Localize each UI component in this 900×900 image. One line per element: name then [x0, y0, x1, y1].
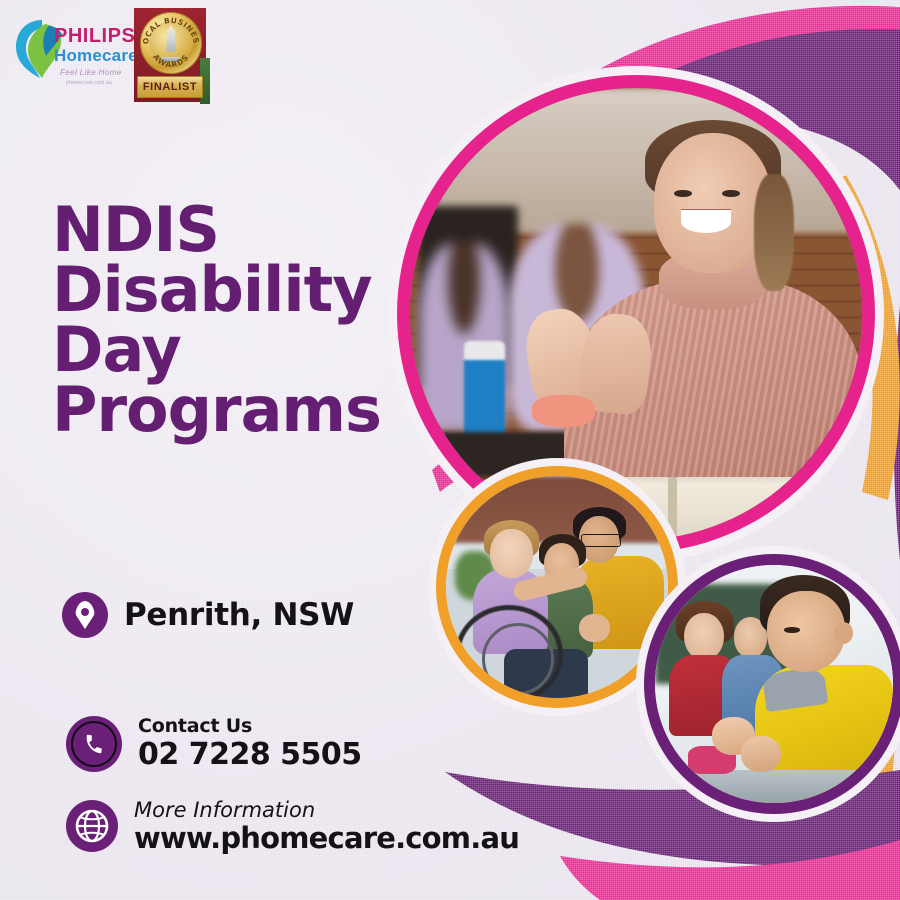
phone-handset-glyph: [82, 732, 107, 757]
badge-finalist-ribbon: FINALIST: [137, 76, 203, 98]
headline-line-3: Day: [52, 320, 452, 380]
map-pin-icon: [62, 592, 108, 638]
badge-arc-bottom-label: AWARDS: [151, 52, 191, 69]
philips-homecare-logo[interactable]: PHILIPS Homecare Feel Like Home phomecar…: [10, 6, 118, 98]
phone-icon: [66, 716, 122, 772]
logo-tagline: Feel Like Home: [60, 68, 122, 77]
website-url[interactable]: www.phomecare.com.au: [134, 822, 519, 854]
badge-arc-bottom-text: AWARDS: [140, 12, 202, 74]
photo-main-woman-clapping: [410, 88, 862, 540]
photo-three-friends: [446, 476, 668, 698]
local-business-awards-badge[interactable]: LOCAL BUSINESS AWARDS FINALIST: [134, 6, 212, 106]
globe-glyph: [66, 800, 118, 852]
brand-header: PHILIPS Homecare Feel Like Home phomecar…: [10, 6, 212, 106]
website-label: More Information: [134, 798, 519, 822]
website-row[interactable]: More Information www.phomecare.com.au: [66, 798, 519, 855]
location-row: Penrith, NSW: [62, 592, 354, 638]
contact-label: Contact Us: [138, 716, 362, 738]
logo-philips-text: PHILIPS: [54, 26, 138, 46]
headline-line-2: Disability: [52, 260, 452, 320]
location-label: Penrith, NSW: [124, 597, 354, 633]
globe-icon: [66, 800, 118, 852]
headline-line-4: Programs: [52, 380, 452, 440]
logo-url: phomecare.com.au: [66, 80, 112, 86]
poster-canvas: PHILIPS Homecare Feel Like Home phomecar…: [0, 0, 900, 900]
svg-text:AWARDS: AWARDS: [151, 52, 191, 69]
badge-gold-seal: LOCAL BUSINESS AWARDS: [140, 12, 202, 74]
photo-craft-activity: [655, 565, 893, 803]
contact-phone-number[interactable]: 02 7228 5505: [138, 738, 362, 772]
logo-homecare-text: Homecare: [54, 46, 138, 66]
badge-finalist-label: FINALIST: [143, 81, 197, 93]
contact-row[interactable]: Contact Us 02 7228 5505: [66, 716, 362, 772]
headline-line-1: NDIS: [52, 200, 452, 260]
page-title: NDIS Disability Day Programs: [52, 200, 452, 441]
